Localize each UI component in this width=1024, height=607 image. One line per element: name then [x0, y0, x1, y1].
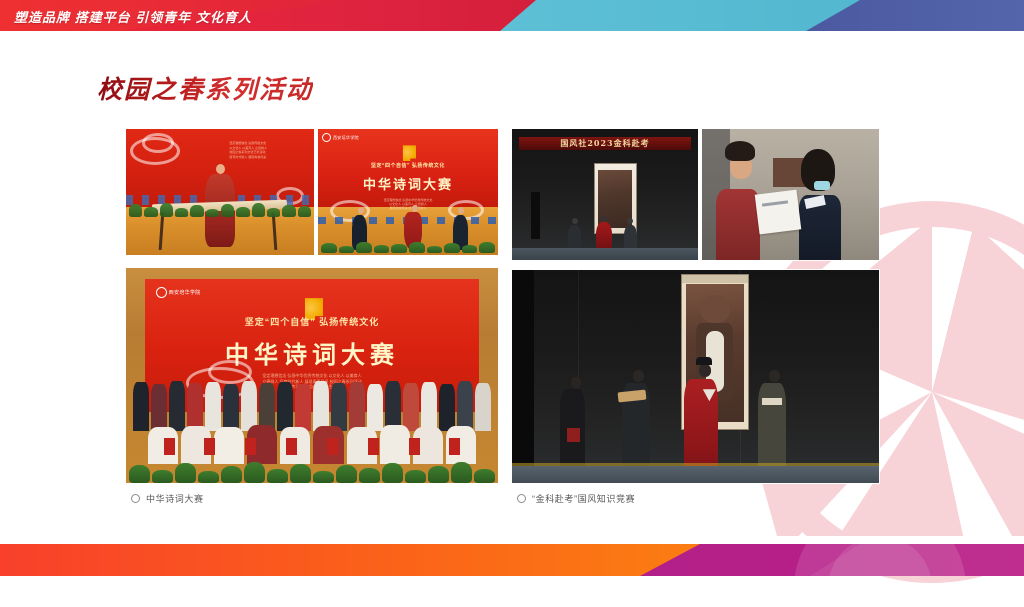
photo-students-reviewing-papers[interactable] [702, 129, 879, 260]
photo-stage-title: 中华诗词大赛 [318, 174, 498, 193]
photo-guzheng-performance[interactable]: 坚定理想信念 弘扬传统文化以文化人 以美育人 立德树人校园之春系列文化艺术活动培… [126, 129, 314, 255]
photo-guofeng-quiz-stage[interactable]: 国风社2023金科赴考 [512, 129, 698, 260]
ring-icon [131, 494, 140, 503]
photo-poetry-contest-dance[interactable]: 西安培华学院 坚定“四个自信” 弘扬传统文化 中华诗词大赛 坚定理想信念 弘扬中… [318, 129, 498, 255]
footer-band [0, 536, 1024, 576]
caption-poetry-contest: 中华诗词大赛 [131, 492, 204, 505]
photo-org-label: 西安培华学院 [169, 289, 201, 296]
photo-stage-title: 中华诗词大赛 [126, 335, 498, 370]
photo-stage-subtitle: 坚定“四个自信” 弘扬传统文化 [126, 315, 498, 328]
header-slogan: 塑造品牌 搭建平台 引领青年 文化育人 [14, 7, 252, 26]
photo-org-label: 西安培华学院 [333, 135, 359, 141]
photo-poetry-contest-group[interactable]: 西安培华学院 坚定“四个自信” 弘扬传统文化 中华诗词大赛 坚定理想信念 弘扬中… [126, 268, 498, 483]
caption-guofeng-quiz: “金科赴考”国风知识竞赛 [517, 492, 635, 505]
ring-icon [517, 494, 526, 503]
photo-stage-subtitle: 坚定“四个自信” 弘扬传统文化 [318, 162, 498, 169]
photo-stage-title: 国风社2023金科赴考 [512, 138, 698, 149]
caption-text: “金科赴考”国风知识竞赛 [532, 492, 635, 505]
photo-guofeng-performers[interactable] [512, 270, 879, 483]
caption-text: 中华诗词大赛 [146, 492, 204, 505]
photo-gallery: 坚定理想信念 弘扬传统文化以文化人 以美育人 立德树人校园之春系列文化艺术活动培… [0, 0, 1024, 576]
